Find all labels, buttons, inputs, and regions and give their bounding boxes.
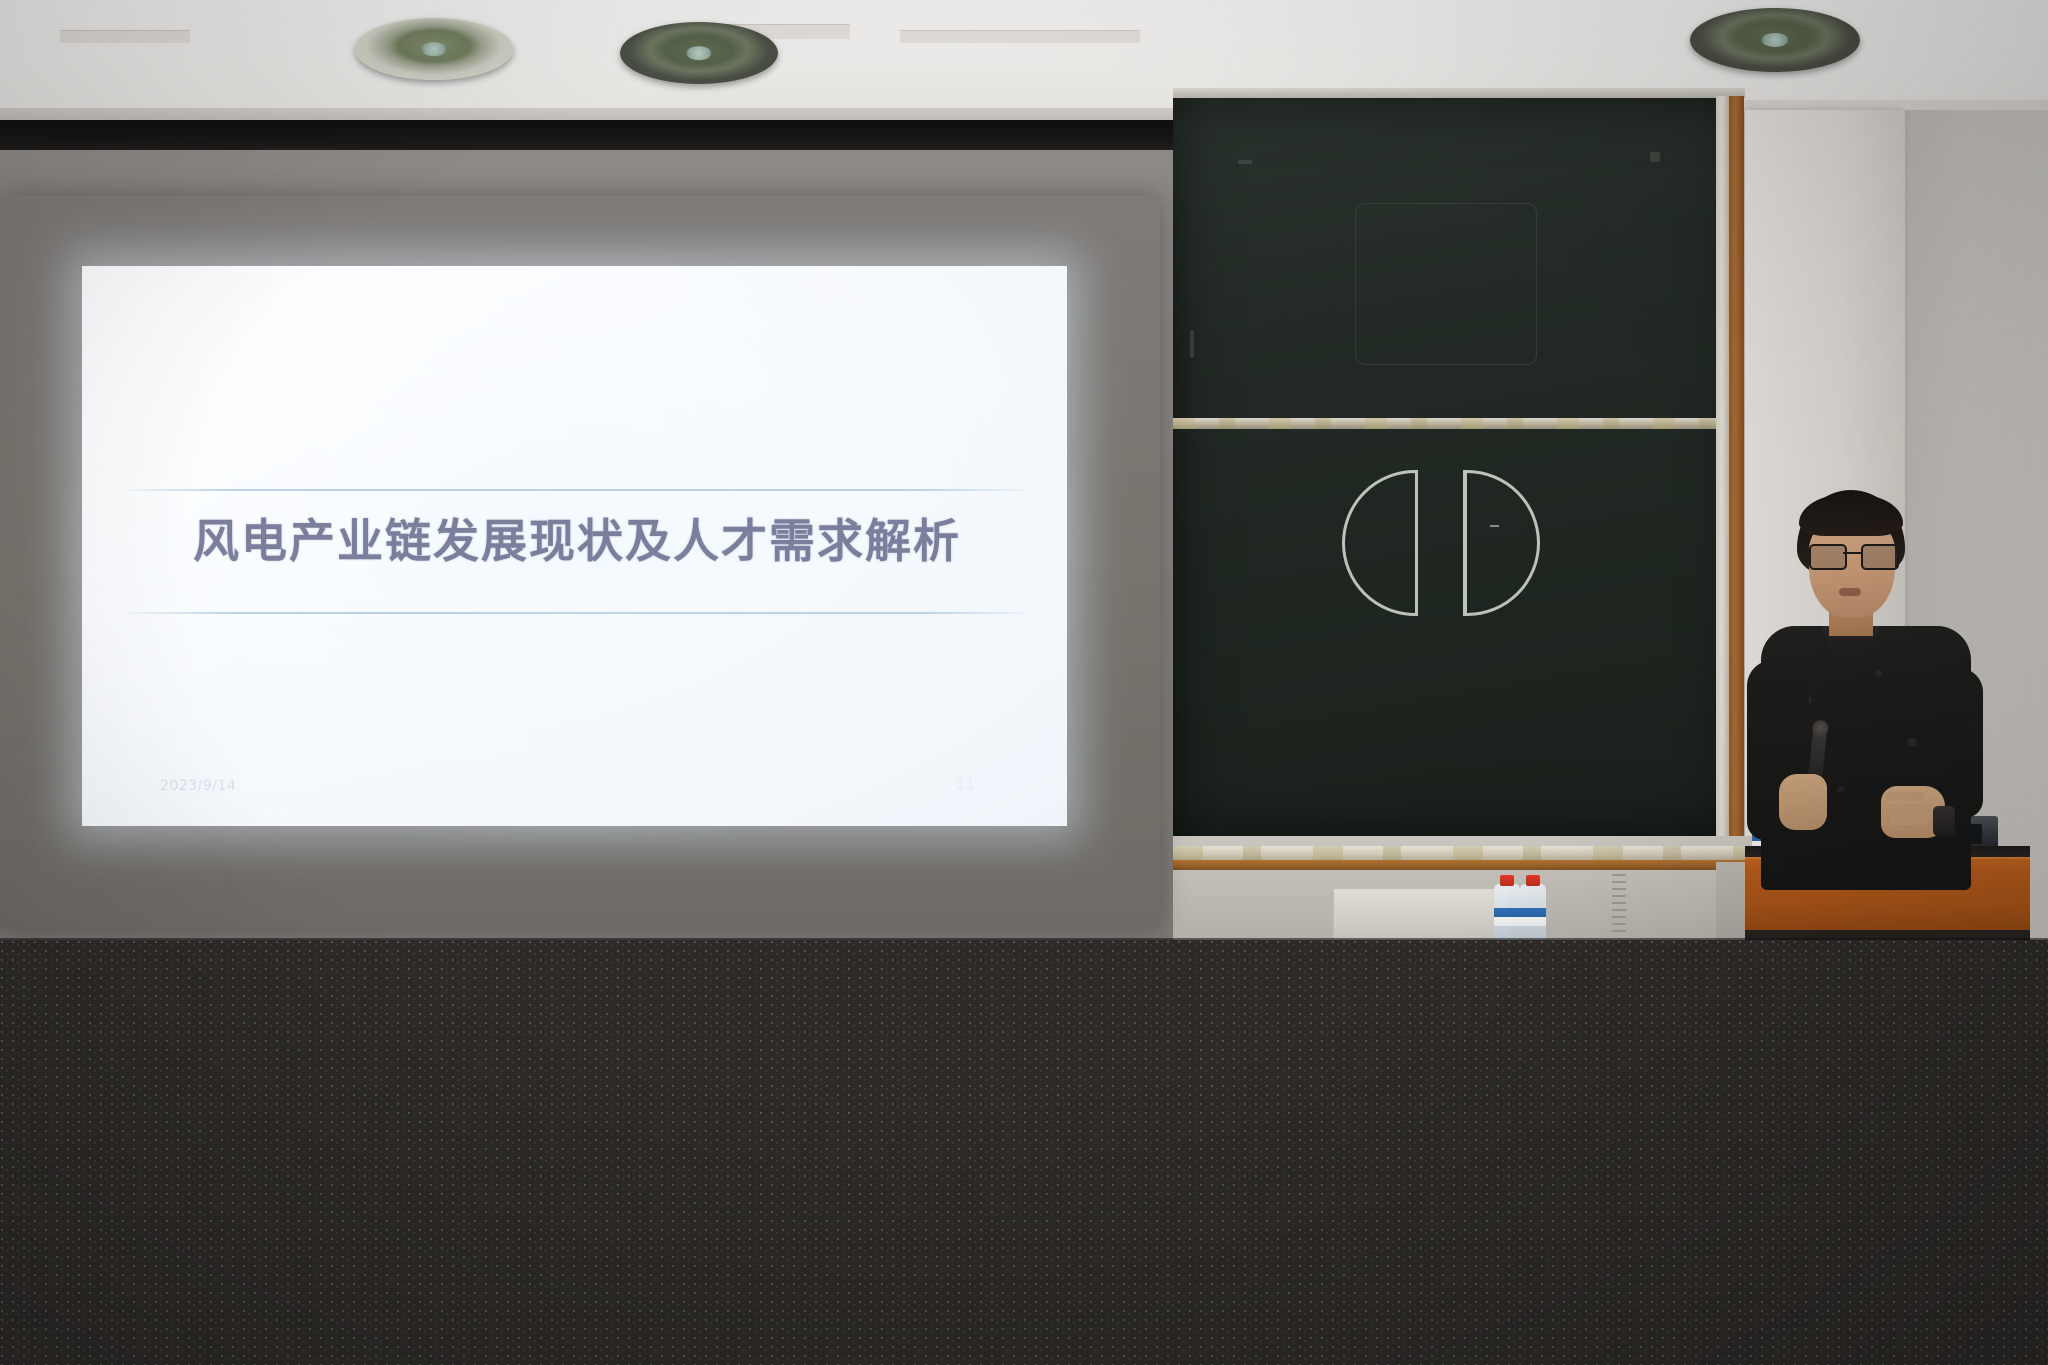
water-bottle: [1520, 884, 1546, 940]
slide-title: 风电产业链发展现状及人才需求解析: [127, 505, 1027, 571]
presenter-hand-holding-mic: [1779, 774, 1827, 830]
chalkboard-faint-mark: [1355, 203, 1537, 365]
slide-date: 2023/9/14: [160, 778, 236, 794]
ceiling-light: [620, 22, 778, 84]
slide-divider-bottom: [127, 612, 1027, 614]
finger: [1885, 792, 1925, 801]
chalk-ledge-wood-trim: [1173, 860, 1765, 870]
chalk-ledge: [1173, 846, 1765, 860]
finger: [1889, 816, 1929, 825]
ceiling-light: [1690, 8, 1860, 72]
foreground-dark-overlay: [0, 940, 2048, 1365]
chalkboard-smudge: [1190, 330, 1194, 358]
glasses-icon: [1807, 544, 1899, 566]
ceiling-light: [355, 18, 513, 80]
presenter-hair-front: [1799, 494, 1903, 536]
presenter-mouth: [1839, 588, 1861, 596]
water-bottle: [1494, 884, 1520, 940]
wall-cabinet: [1333, 888, 1510, 942]
presenter: [1735, 490, 2035, 890]
chalk-mark: [1490, 525, 1499, 527]
chalkboard-right-frame: [1716, 96, 1729, 836]
chalkboard-smudge: [1650, 152, 1660, 162]
glasses-lens-left: [1809, 544, 1847, 570]
slide-divider-top: [127, 489, 1027, 491]
ceiling-vent: [60, 30, 190, 43]
speaker-grill: [1612, 874, 1626, 934]
chalkboard-top-frame: [1173, 88, 1745, 98]
finger: [1887, 804, 1931, 813]
wristwatch: [1933, 806, 1955, 836]
glasses-lens-right: [1861, 544, 1899, 570]
chalkboard-smudge: [1238, 160, 1252, 164]
ceiling-vent: [900, 30, 1140, 43]
lecture-hall-scene: 风电产业链发展现状及人才需求解析 2023/9/14 11: [0, 0, 2048, 1365]
chalkboard-divider-ledge: [1173, 418, 1721, 429]
slide-page-number: 11: [955, 774, 975, 793]
glasses-bridge: [1843, 552, 1861, 554]
